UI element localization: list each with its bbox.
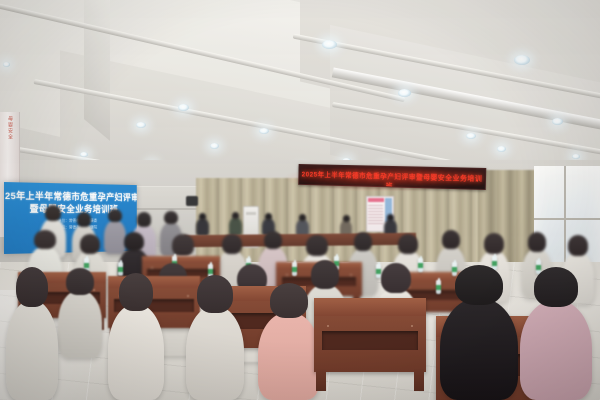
audience-member-head	[381, 263, 411, 293]
wall-speaker-icon	[186, 196, 198, 206]
desk	[314, 298, 426, 372]
downlight-icon	[136, 122, 146, 128]
head-table-person-head	[232, 212, 240, 219]
audience-member	[104, 220, 126, 254]
audience-member-head	[455, 265, 503, 306]
downlight-icon	[3, 62, 10, 67]
audience-member-head	[264, 231, 283, 249]
audience-member-head	[80, 234, 100, 254]
downlight-icon	[259, 128, 269, 134]
screen-title-line1: 25年上半年常德市危重孕产妇评审	[4, 190, 137, 204]
downlight-icon	[80, 152, 88, 157]
audience-member-head	[568, 235, 588, 256]
downlight-icon	[514, 55, 530, 65]
downlight-icon	[572, 154, 580, 159]
audience-member	[6, 300, 58, 400]
audience-member-head	[119, 273, 154, 311]
audience-member-head	[306, 235, 327, 256]
audience-member-head	[311, 260, 340, 289]
audience-member	[108, 304, 164, 400]
audience-member-head	[34, 230, 55, 249]
water-bottle	[418, 258, 423, 272]
audience-member-head	[66, 268, 93, 295]
water-bottle	[292, 262, 297, 276]
audience-member-head	[45, 205, 61, 221]
water-bottle	[452, 262, 457, 276]
desk-leg	[414, 369, 424, 391]
conference-room-photo: 母婴安全 25年上半年常德市危重孕产妇评审 暨母婴安全业务培训班 主办单位：常德…	[0, 0, 600, 400]
audience-member-head	[270, 283, 308, 318]
head-table-person	[196, 218, 209, 236]
audience-member-head	[172, 234, 193, 256]
downlight-icon	[210, 143, 219, 149]
head-table-person-head	[343, 215, 350, 222]
head-table-person-head	[299, 214, 307, 221]
audience-member-head	[528, 232, 547, 252]
head-table-person-head	[265, 213, 273, 220]
side-banner-text: 母婴安全	[6, 112, 13, 140]
desk-leg	[316, 369, 326, 391]
ceiling-beam-vertical	[84, 0, 110, 141]
head-table-person-head	[199, 213, 207, 220]
audience-member	[58, 290, 102, 358]
audience-member-head	[442, 230, 461, 249]
audience-member-head	[484, 233, 504, 254]
audience-member-head	[534, 267, 579, 307]
audience-member-head	[197, 275, 233, 313]
downlight-icon	[322, 40, 337, 49]
audience-member-head	[124, 232, 144, 251]
audience-member	[258, 312, 320, 400]
audience-member	[520, 300, 592, 400]
head-table	[184, 233, 416, 247]
audience-member-head	[354, 232, 373, 251]
downlight-icon	[178, 104, 189, 111]
audience-member-head	[164, 211, 178, 225]
audience-member-head	[222, 234, 242, 254]
downlight-icon	[466, 133, 476, 139]
audience-member-head	[108, 209, 122, 223]
audience-member-head	[16, 267, 48, 307]
desk-shelf	[322, 331, 418, 350]
desk-top	[142, 256, 220, 263]
poster-header-bar	[368, 198, 384, 202]
desk-top	[314, 298, 426, 316]
downlight-icon	[552, 118, 563, 125]
audience-member-head	[398, 234, 418, 254]
downlight-icon	[398, 89, 411, 97]
head-table-person-head	[387, 214, 395, 221]
audience-member	[186, 306, 244, 400]
water-bottle	[118, 262, 123, 276]
downlight-icon	[497, 146, 506, 152]
audience-member-head	[77, 212, 92, 227]
water-bottle	[436, 280, 441, 294]
audience-member	[440, 298, 518, 400]
audience-member-head	[137, 212, 152, 226]
window-transom	[534, 218, 600, 220]
